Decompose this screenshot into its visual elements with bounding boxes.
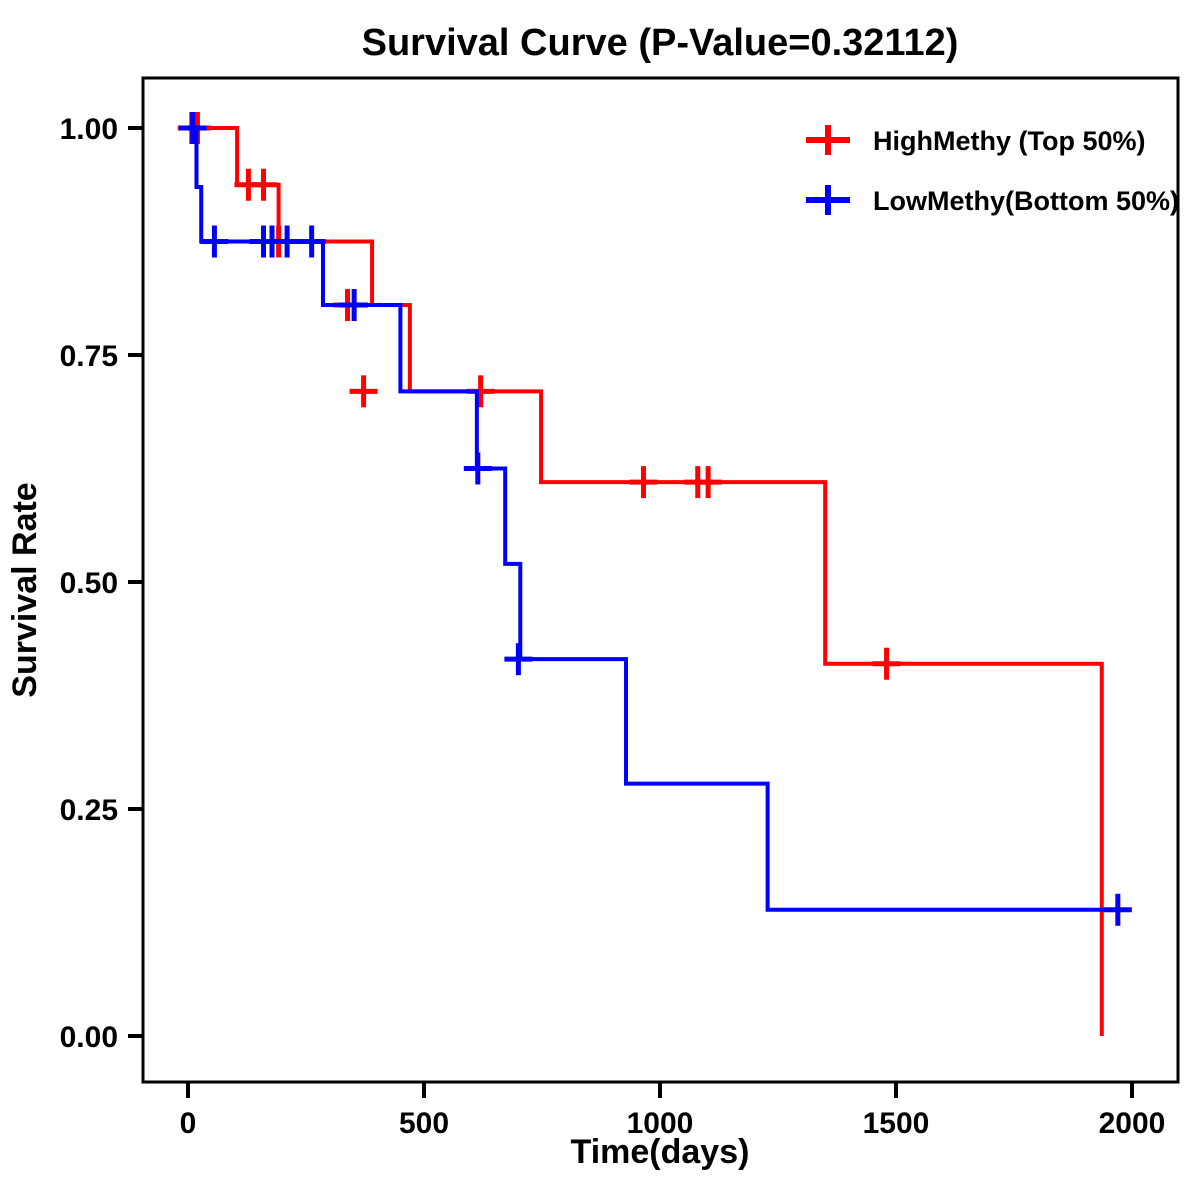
- legend-label: LowMethy(Bottom 50%): [873, 186, 1179, 216]
- survival-plot-canvas: Survival Curve (P-Value=0.32112) 0.000.2…: [0, 0, 1200, 1200]
- page-title: Survival Curve (P-Value=0.32112): [362, 22, 959, 64]
- x-tick-label: 0: [180, 1107, 197, 1140]
- y-tick-label: 0.50: [60, 567, 118, 600]
- x-tick-label: 2000: [1099, 1107, 1166, 1140]
- survival-curve-figure: Survival Curve (P-Value=0.32112) 0.000.2…: [0, 0, 1200, 1200]
- y-tick-label: 0.00: [60, 1021, 118, 1054]
- x-axis-title: Time(days): [571, 1133, 750, 1171]
- y-tick-label: 0.25: [60, 794, 118, 827]
- x-tick-label: 1500: [863, 1107, 930, 1140]
- figure-background: [0, 0, 1200, 1200]
- y-axis-title: Survival Rate: [6, 482, 44, 697]
- legend-label: HighMethy (Top 50%): [873, 126, 1146, 156]
- x-tick-label: 500: [399, 1107, 449, 1140]
- y-tick-label: 0.75: [60, 340, 118, 373]
- y-tick-label: 1.00: [60, 113, 118, 146]
